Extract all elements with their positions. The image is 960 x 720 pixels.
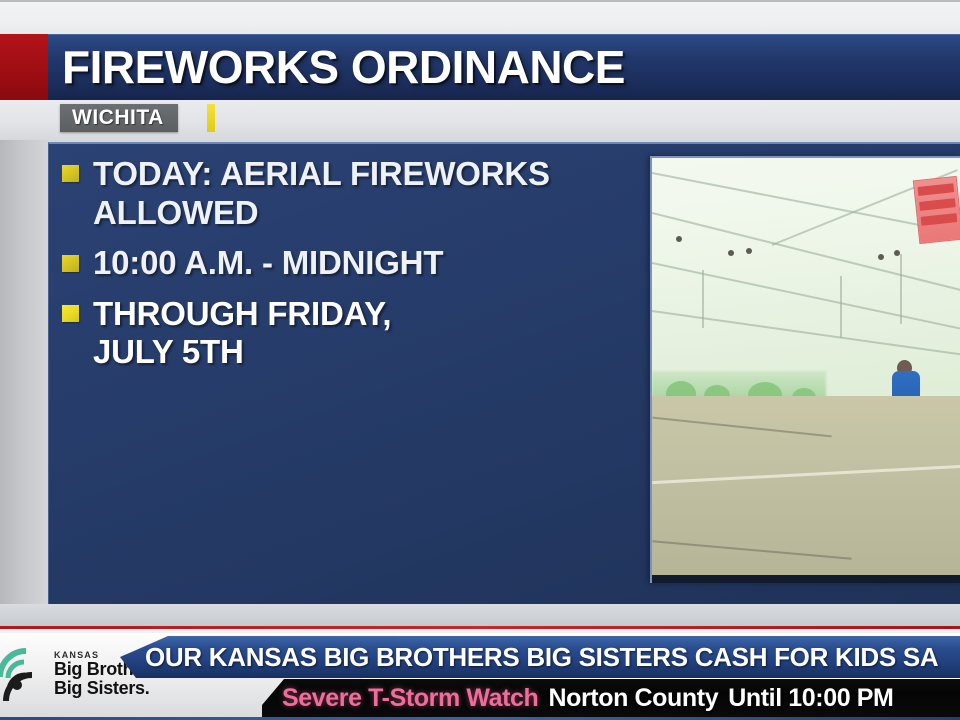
bullet-line-2: ALLOWED [93, 194, 550, 233]
weather-alert-until: Until 10:00 PM [728, 684, 893, 713]
warning-sign-line [921, 213, 958, 226]
bullet-list: TODAY: AERIAL FIREWORKS ALLOWED 10:00 A.… [62, 155, 642, 384]
news-ticker-headline: OUR KANSAS BIG BROTHERS BIG SISTERS CASH… [145, 636, 938, 678]
tent-light-icon [894, 250, 900, 256]
tent-light-icon [878, 254, 884, 260]
bullet-square-icon [62, 165, 79, 182]
broadcast-screen: FIREWORKS ORDINANCE WICHITA TODAY: AERIA… [0, 0, 960, 720]
tent-pole [702, 270, 704, 328]
tent-light-icon [728, 250, 734, 256]
bullet-line-1: THROUGH FRIDAY, [93, 295, 391, 334]
list-item: TODAY: AERIAL FIREWORKS ALLOWED [62, 155, 642, 232]
lower-letterbox-strip [0, 604, 960, 626]
bullet-square-icon [62, 255, 79, 272]
news-photo [650, 156, 960, 583]
bullet-line-1: 10:00 A.M. - MIDNIGHT [93, 244, 443, 283]
bullet-text: THROUGH FRIDAY, JULY 5TH [93, 295, 391, 372]
tent-light-icon [746, 248, 752, 254]
location-tag-label: WICHITA [72, 106, 164, 130]
bullet-text: 10:00 A.M. - MIDNIGHT [93, 244, 443, 283]
weather-alert-type: Severe T-Storm Watch [282, 684, 538, 713]
tent-light-icon [676, 236, 682, 242]
bullet-line-2: JULY 5TH [93, 333, 391, 372]
bullet-line-1: TODAY: AERIAL FIREWORKS [93, 155, 550, 194]
sponsor-logo-line-3: Big Sisters. [54, 679, 159, 698]
photo-bottom-edge [652, 575, 960, 583]
location-tag-accent-bar [207, 104, 215, 132]
tent-pole [900, 254, 902, 324]
bullet-square-icon [62, 305, 79, 322]
news-photo-content [652, 158, 960, 583]
weather-alert-text: Severe T-Storm Watch Norton County Until… [282, 679, 893, 717]
list-item: 10:00 A.M. - MIDNIGHT [62, 244, 642, 283]
location-tag: WICHITA [60, 104, 178, 132]
bullet-text: TODAY: AERIAL FIREWORKS ALLOWED [93, 155, 550, 232]
header-red-accent-block [0, 34, 48, 100]
big-brothers-big-sisters-logo-icon [0, 645, 48, 707]
list-item: THROUGH FRIDAY, JULY 5TH [62, 295, 642, 372]
warning-sign-line [919, 198, 956, 211]
top-letterbox-strip [0, 0, 960, 36]
no-smoking-warning-sign [913, 176, 960, 244]
left-gutter [0, 140, 48, 604]
warning-sign-line [917, 183, 954, 196]
weather-alert-county: Norton County [548, 684, 718, 713]
lower-third-ticker-zone: KANSAS Big Brothers Big Sisters. OUR KAN… [0, 633, 960, 720]
page-title: FIREWORKS ORDINANCE [62, 34, 625, 100]
tent-pole [840, 276, 842, 338]
